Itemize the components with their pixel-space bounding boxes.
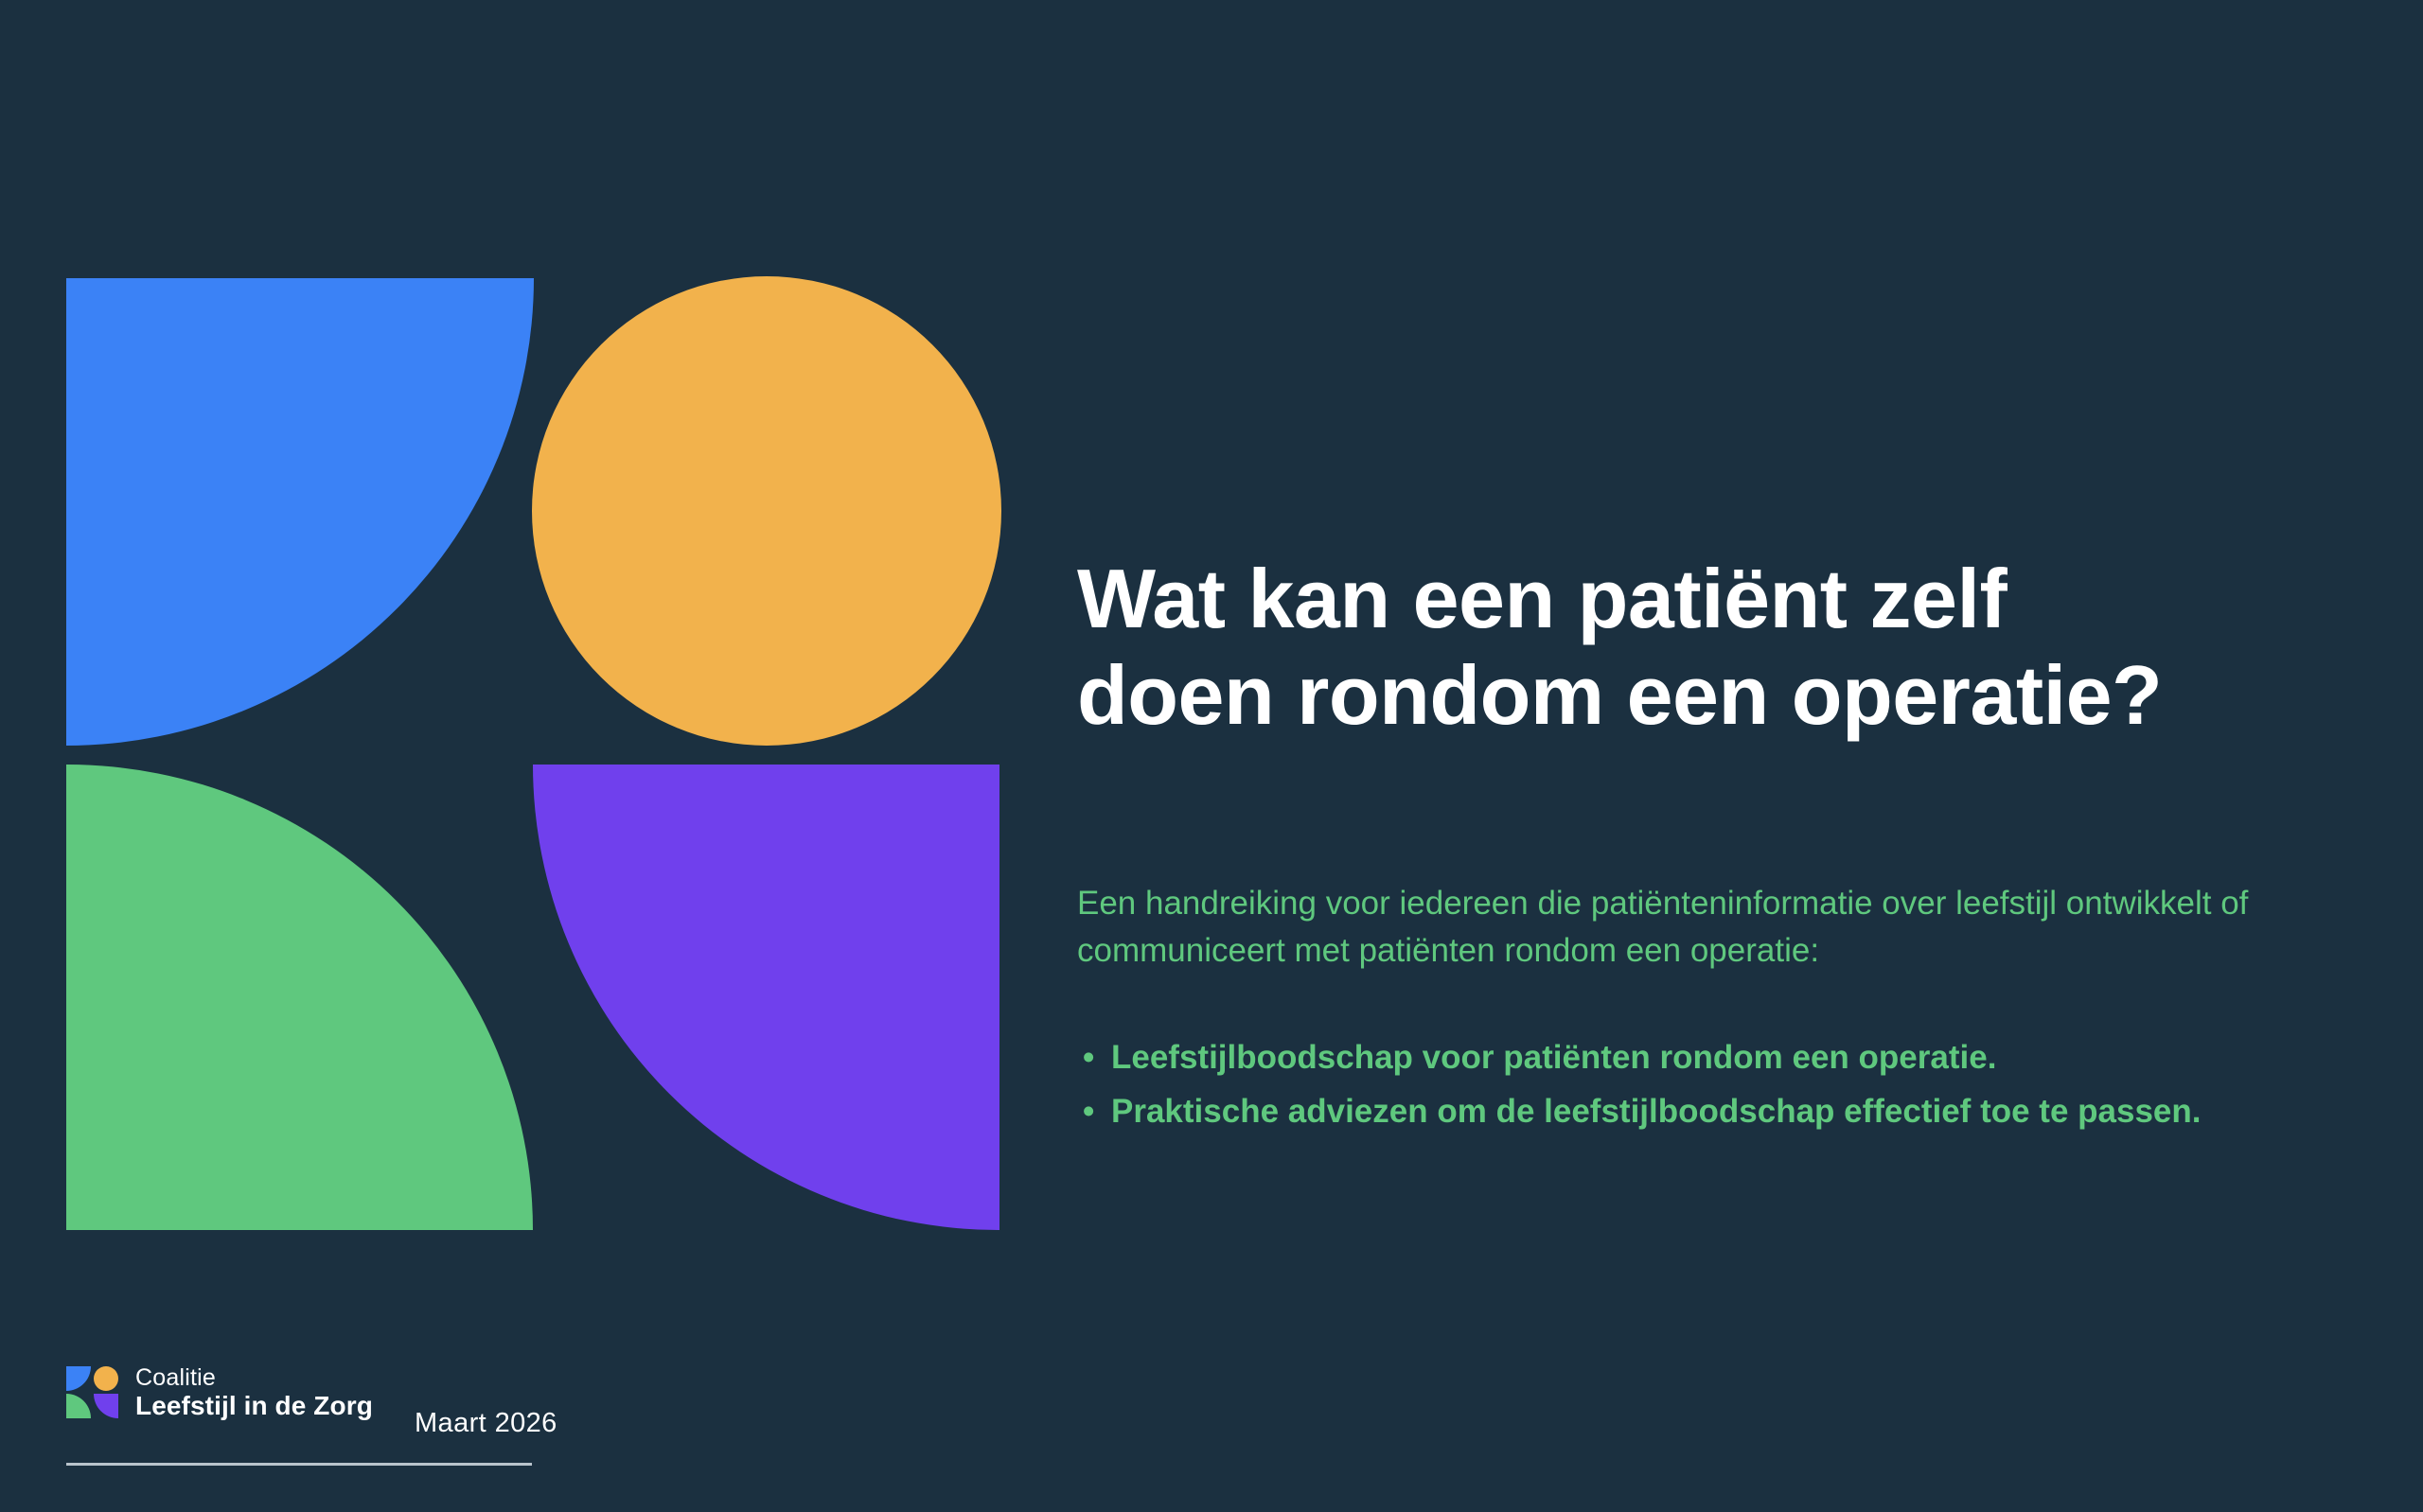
footer-divider	[66, 1463, 532, 1466]
logo-orange-circle-icon	[94, 1366, 118, 1391]
logo-mark-icon	[66, 1366, 118, 1418]
page-title: Wat kan een patiënt zelf doen rondom een…	[1077, 551, 2402, 744]
bullet-list: • Leefstijlboodschap voor patiënten rond…	[1077, 1031, 2402, 1138]
logo-blue-quarter-icon	[66, 1366, 91, 1391]
bullet-marker-icon: •	[1083, 1031, 1094, 1085]
slide-content: Wat kan een patiënt zelf doen rondom een…	[1077, 0, 2383, 1512]
logo-line-2: Leefstijl in de Zorg	[135, 1391, 373, 1420]
orange-circle-icon	[532, 276, 1001, 746]
list-item-label: Leefstijlboodschap voor patiënten rondom…	[1111, 1039, 1996, 1076]
logo-purple-quarter-icon	[94, 1394, 118, 1418]
list-item: • Praktische adviezen om de leefstijlboo…	[1077, 1085, 2402, 1139]
logo-wordmark: Coalitie Leefstijl in de Zorg	[135, 1364, 373, 1420]
title-line-1: Wat kan een patiënt zelf	[1077, 552, 2007, 645]
logo-line-1: Coalitie	[135, 1364, 373, 1391]
decorative-shape-cluster	[0, 0, 1060, 1325]
list-item: • Leefstijlboodschap voor patiënten rond…	[1077, 1031, 2402, 1085]
bullet-marker-icon: •	[1083, 1085, 1094, 1139]
blue-quarter-circle-icon	[66, 278, 534, 746]
footer-date: Maart 2026	[415, 1408, 557, 1439]
green-quarter-circle-icon	[66, 765, 533, 1230]
slide-subtitle: Een handreiking voor iedereen die patiën…	[1077, 880, 2326, 974]
logo-green-quarter-icon	[66, 1394, 91, 1418]
list-item-label: Praktische adviezen om de leefstijlboods…	[1111, 1093, 2201, 1130]
slide-footer: Coalitie Leefstijl in de Zorg Maart 2026	[66, 1364, 558, 1468]
title-slide: Wat kan een patiënt zelf doen rondom een…	[0, 0, 2423, 1512]
purple-quarter-circle-icon	[533, 765, 999, 1230]
title-line-2: doen rondom een operatie?	[1077, 648, 2162, 742]
